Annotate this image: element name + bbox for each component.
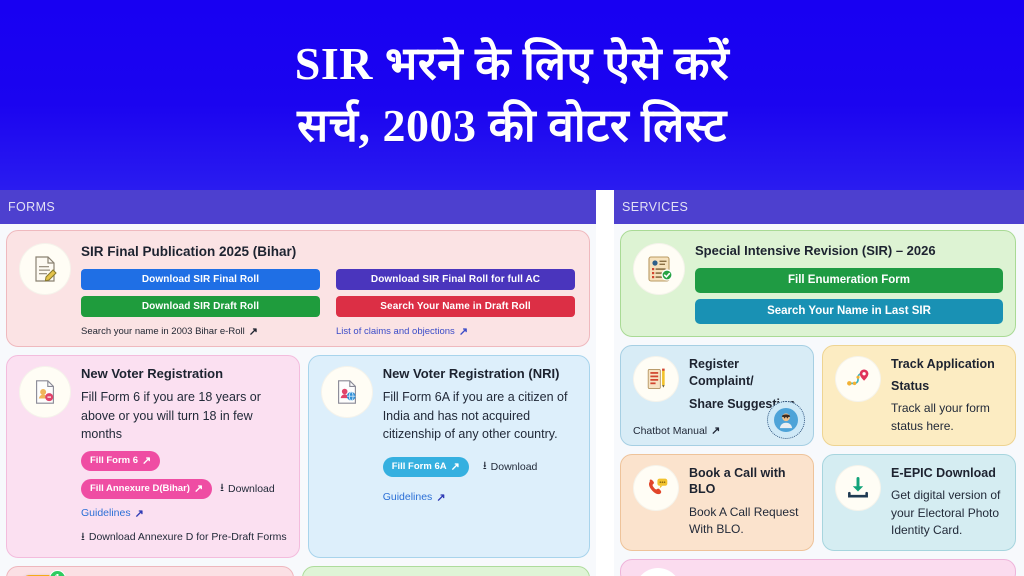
sir-final-link-row: Search your name in 2003 Bihar e-Roll ↗ … [81, 325, 575, 338]
fill-form-6-button[interactable]: Fill Form 6 ↗ [81, 451, 160, 471]
services-row-call-epic: Book a Call with BLO Book A Call Request… [620, 454, 1016, 558]
fill-enumeration-form-button[interactable]: Fill Enumeration Form [695, 268, 1003, 293]
document-pencil-icon [19, 243, 71, 295]
card-sir-final-publication[interactable]: SIR Final Publication 2025 (Bihar) Downl… [6, 230, 590, 347]
card-title: SIR Final Publication 2025 (Bihar) [81, 243, 575, 261]
external-arrow-icon: ↗ [194, 482, 203, 495]
external-arrow-icon: ↗ [142, 454, 151, 467]
card-e-epic-download[interactable]: E-EPIC Download Get digital version of y… [822, 454, 1016, 550]
extension-badge-count: 1 [49, 570, 66, 576]
card-title: E-EPIC Download [891, 465, 1003, 481]
card-deletion[interactable]: 1 Deletion Fill Form 7 to get name delet… [6, 566, 294, 576]
download-form-6-link[interactable]: ⭳ Download [220, 479, 275, 498]
services-row-complaint-track: Register Complaint/ Share Suggestion Cha… [620, 345, 1016, 454]
forms-panel-title: FORMS [8, 200, 55, 214]
button-label: Fill Form 6A [392, 461, 447, 472]
list-claims-objections-link[interactable]: List of claims and objections ↗ [336, 325, 575, 338]
search-name-last-sir-button[interactable]: Search Your Name in Last SIR [695, 299, 1003, 324]
link-label: List of claims and objections [336, 326, 455, 337]
panel-divider [596, 190, 614, 224]
column-divider [596, 224, 614, 576]
card-title-line-2: Status [891, 378, 1003, 394]
banner-headline-line-2: सर्च, 2003 की वोटर लिस्ट [297, 98, 727, 154]
sir-final-button-grid: Download SIR Final Roll Download SIR Fin… [81, 269, 575, 317]
download-sir-final-roll-full-ac-button[interactable]: Download SIR Final Roll for full AC [336, 269, 575, 290]
complaint-book-icon [633, 356, 679, 402]
link-label: Chatbot Manual [633, 425, 707, 437]
page-banner: SIR भरने के लिए ऐसे करें सर्च, 2003 की व… [0, 0, 1024, 190]
link-label: Guidelines [81, 507, 131, 519]
external-arrow-icon: ↗ [135, 507, 144, 520]
card-correction-of-entries[interactable]: Correction Of Entries Fill Form 8 to get… [302, 566, 590, 576]
document-user-icon [19, 366, 71, 418]
forms-row-deletion-correction: 1 Deletion Fill Form 7 to get name delet… [6, 566, 590, 576]
download-sir-final-roll-button[interactable]: Download SIR Final Roll [81, 269, 320, 290]
panel-header-bar: FORMS SERVICES [0, 190, 1024, 224]
link-label: Download Annexure D for Pre-Draft Forms [89, 531, 287, 543]
forms-row-registration: New Voter Registration Fill Form 6 if yo… [6, 355, 590, 566]
new-voter-action-row: Fill Form 6 ↗ Fill Annexure D(Bihar) ↗ ⭳… [81, 451, 287, 499]
external-arrow-icon: ↗ [249, 325, 258, 338]
banner-headline-line-1: SIR भरने के लिए ऐसे करें [295, 36, 729, 92]
card-title: Book a Call with BLO [689, 465, 801, 498]
card-description: Fill Form 6 if you are 18 years or above… [81, 388, 287, 442]
search-name-2003-eroll-link[interactable]: Search your name in 2003 Bihar e-Roll ↗ [81, 325, 320, 338]
download-tray-icon [835, 465, 881, 511]
card-title: New Voter Registration (NRI) [383, 366, 577, 383]
card-description: Get digital version of your Electoral Ph… [891, 487, 1003, 539]
card-book-call-with-blo[interactable]: Book a Call with BLO Book A Call Request… [620, 454, 814, 550]
card-description: Track all your form status here. [891, 400, 1003, 435]
main-content: SIR Final Publication 2025 (Bihar) Downl… [0, 224, 1024, 576]
card-icon-circle [635, 568, 681, 576]
card-partially-visible[interactable] [620, 559, 1016, 576]
fill-form-6a-button[interactable]: Fill Form 6A ↗ [383, 457, 469, 477]
avatar [774, 408, 798, 432]
link-label: Download [491, 461, 538, 473]
card-title-line-1: Track Application [891, 356, 1003, 372]
services-column: Special Intensive Revision (SIR) – 2026 … [614, 224, 1024, 576]
button-label: Fill Form 6 [90, 455, 138, 466]
card-track-application-status[interactable]: Track Application Status Track all your … [822, 345, 1016, 446]
fill-annexure-d-bihar-button[interactable]: Fill Annexure D(Bihar) ↗ [81, 479, 212, 499]
card-title: New Voter Registration [81, 366, 287, 383]
card-description: Fill Form 6A if you are a citizen of Ind… [383, 388, 577, 442]
card-new-voter-registration-nri[interactable]: New Voter Registration (NRI) Fill Form 6… [308, 355, 590, 558]
search-name-draft-roll-button[interactable]: Search Your Name in Draft Roll [336, 296, 575, 317]
link-label: Search your name in 2003 Bihar e-Roll [81, 326, 245, 337]
download-icon: ⭳ [220, 479, 224, 498]
forms-panel-header: FORMS [0, 190, 596, 224]
download-icon: ⭳ [483, 457, 487, 476]
download-annexure-d-predraft-link[interactable]: ⭳ Download Annexure D for Pre-Draft Form… [81, 528, 287, 547]
external-arrow-icon: ↗ [436, 491, 445, 504]
nri-action-row: Fill Form 6A ↗ ⭳ Download Guidelines ↗ [383, 457, 577, 504]
download-icon: ⭳ [81, 528, 85, 547]
card-description: Book A Call Request With BLO. [689, 504, 801, 539]
card-title: Special Intensive Revision (SIR) – 2026 [695, 243, 1003, 260]
route-pin-icon [835, 356, 881, 402]
link-label: Guidelines [383, 491, 433, 503]
forms-column: SIR Final Publication 2025 (Bihar) Downl… [0, 224, 596, 576]
download-form-6a-link[interactable]: ⭳ Download [483, 457, 538, 476]
guidelines-link[interactable]: Guidelines ↗ [81, 507, 144, 520]
new-voter-link-row: Guidelines ↗ ⭳ Download Annexure D for P… [81, 507, 287, 547]
phone-chat-icon [633, 465, 679, 511]
link-label: Download [228, 483, 275, 495]
button-label: Fill Annexure D(Bihar) [90, 483, 190, 494]
card-special-intensive-revision-2026[interactable]: Special Intensive Revision (SIR) – 2026 … [620, 230, 1016, 337]
external-arrow-icon: ↗ [711, 424, 720, 437]
download-sir-draft-roll-button[interactable]: Download SIR Draft Roll [81, 296, 320, 317]
card-title-line-1: Register Complaint/ [689, 356, 801, 390]
voter-mitra-chatbot-avatar-icon[interactable] [767, 401, 805, 439]
id-checklist-check-icon [633, 243, 685, 295]
services-panel-title: SERVICES [622, 200, 688, 214]
services-panel-header: SERVICES [614, 190, 1024, 224]
nri-guidelines-link[interactable]: Guidelines ↗ [383, 491, 446, 504]
external-arrow-icon: ↗ [459, 325, 468, 338]
document-globe-user-icon [321, 366, 373, 418]
chatbot-manual-link[interactable]: Chatbot Manual ↗ [633, 424, 720, 437]
card-new-voter-registration[interactable]: New Voter Registration Fill Form 6 if yo… [6, 355, 300, 558]
card-register-complaint[interactable]: Register Complaint/ Share Suggestion Cha… [620, 345, 814, 446]
sir-2026-button-stack: Fill Enumeration Form Search Your Name i… [695, 268, 1003, 324]
external-arrow-icon: ↗ [451, 460, 460, 473]
